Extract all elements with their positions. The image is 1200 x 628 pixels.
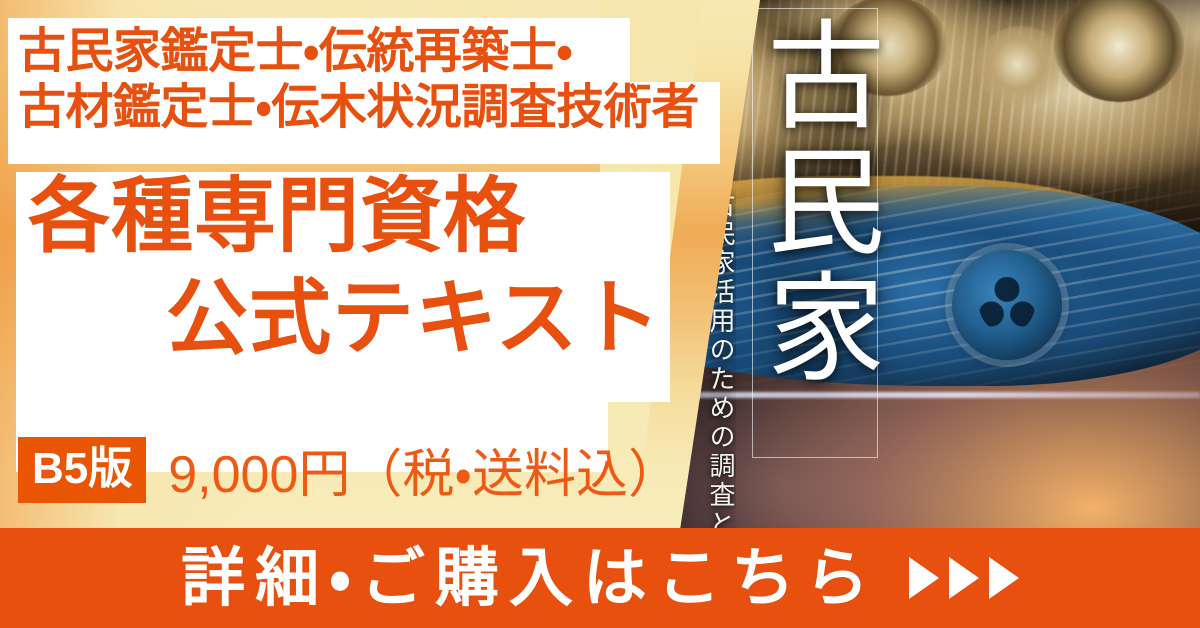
cover-title-text: 古民家 [750,8,878,456]
price-text: 9,000円（税・送料込） [168,432,680,507]
cta-bar[interactable]: 詳細・ご購入はこちら [0,528,1200,628]
headline-line-2: 古材鑑定士・伝木状況調査技術者 [18,80,724,136]
chevron-right-icon [989,557,1019,599]
headline-line-1: 古民家鑑定士・伝統再築士・ [18,25,572,78]
cta-arrows [909,557,1019,599]
main-title-line-2: 公式テキスト [16,278,676,360]
chevron-right-icon [949,557,979,599]
price-row: B5版 9,000円（税・送料込） [18,432,680,507]
carving-curl-center [976,26,1066,106]
promo-banner: 古民家 伝統構法、古民家活用のための調査と再生の 古民家鑑定士・伝統再築士・ 古… [0,0,1200,628]
family-crest-icon [952,250,1062,360]
headline-block: 古民家鑑定士・伝統再築士・ 古材鑑定士・伝木状況調査技術者 [18,24,724,135]
main-title-line-1: 各種専門資格 [16,176,676,258]
cta-label[interactable]: 詳細・ご購入はこちら [181,546,879,610]
format-badge: B5版 [18,437,146,503]
chevron-right-icon [909,557,939,599]
main-title-block: 各種専門資格 公式テキスト [16,176,676,360]
